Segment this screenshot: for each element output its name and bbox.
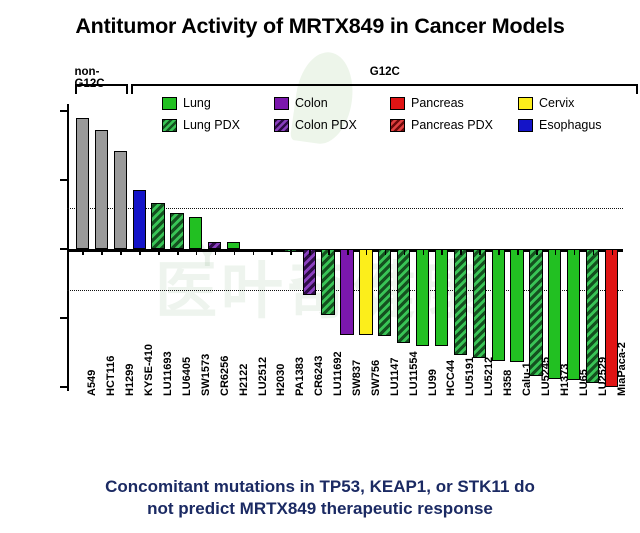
x-label-h2030: H2030: [275, 364, 287, 396]
x-label-h1299: H1299: [124, 364, 136, 396]
x-tick: [593, 249, 595, 255]
x-tick: [498, 249, 500, 255]
x-label-lu11692: LU11692: [332, 351, 344, 396]
chart-page: 医叶奇健康 Y Antitumor Activity of MRTX849 in…: [0, 0, 640, 533]
group-label-g12c: G12C: [131, 66, 638, 78]
x-tick: [120, 249, 122, 255]
x-label-lu1147: LU1147: [389, 357, 401, 396]
bar-cr6256: [208, 242, 221, 249]
x-tick: [101, 249, 103, 255]
x-label-lu5245: LU5245: [540, 357, 552, 396]
bar-a549: [76, 118, 89, 249]
x-tick: [234, 249, 236, 255]
bar-kyse-410: [133, 190, 146, 249]
bar-hcc44: [435, 249, 448, 346]
x-label-lu5212: LU5212: [483, 357, 495, 396]
x-label-lu11693: LU11693: [162, 351, 174, 396]
x-label-cr6256: CR6256: [219, 356, 231, 396]
x-tick: [215, 249, 217, 255]
x-tick: [177, 249, 179, 255]
bar-calu-1: [510, 249, 523, 362]
x-label-lu6405: LU6405: [181, 357, 193, 396]
x-tick: [82, 249, 84, 255]
x-tick: [347, 249, 349, 255]
x-tick: [404, 249, 406, 255]
x-label-hct116: HCT116: [105, 356, 117, 396]
x-label-sw756: SW756: [370, 360, 382, 396]
x-label-sw1573: SW1573: [200, 354, 212, 396]
x-tick: [158, 249, 160, 255]
x-tick: [328, 249, 330, 255]
bar-h1299: [114, 151, 127, 249]
bar-lu1147: [378, 249, 391, 336]
x-tick: [536, 249, 538, 255]
x-tick: [574, 249, 576, 255]
y-tick: [60, 110, 67, 112]
x-label-lu2529: LU2529: [597, 357, 609, 396]
x-label-pa1383: PA1383: [294, 357, 306, 396]
bar-lu5212: [473, 249, 486, 358]
bar-lu11692: [321, 249, 334, 315]
x-label-kyse-410: KYSE-410: [143, 344, 155, 396]
x-tick: [196, 249, 198, 255]
x-tick: [460, 249, 462, 255]
caption-line-2: not predict MRTX849 therapeutic response: [40, 498, 600, 520]
x-label-lu11554: LU11554: [408, 351, 420, 396]
x-tick: [612, 249, 614, 255]
x-label-lu99: LU99: [427, 369, 439, 396]
x-label-h1373: H1373: [559, 364, 571, 396]
y-tick: [60, 386, 67, 388]
x-tick: [423, 249, 425, 255]
y-tick: [60, 179, 67, 181]
bar-lu65: [567, 249, 580, 380]
caption-line-1: Concomitant mutations in TP53, KEAP1, or…: [40, 476, 600, 498]
x-tick: [139, 249, 141, 255]
x-label-miapaca-2: MiaPaca-2: [616, 342, 628, 396]
group-bracket: [131, 84, 638, 94]
y-tick: [60, 248, 67, 250]
bar-cr6243: [303, 249, 316, 295]
x-tick: [555, 249, 557, 255]
x-label-h2122: H2122: [238, 364, 250, 396]
bar-lu11554: [397, 249, 410, 343]
x-label-lu65: LU65: [578, 369, 590, 396]
bar-lu5191: [454, 249, 467, 355]
figure-caption: Concomitant mutations in TP53, KEAP1, or…: [40, 476, 600, 521]
bar-sw1573: [189, 217, 202, 249]
bar-h2122: [227, 242, 240, 249]
bar-h358: [492, 249, 505, 361]
bar-sw837: [340, 249, 353, 335]
x-tick: [385, 249, 387, 255]
x-label-calu-1: Calu-1: [521, 362, 533, 396]
x-label-sw837: SW837: [351, 360, 363, 396]
group-label-non-g12c: non-G12C: [75, 66, 129, 90]
x-tick: [517, 249, 519, 255]
x-tick: [309, 249, 311, 255]
bar-lu99: [416, 249, 429, 346]
x-tick: [290, 249, 292, 255]
x-tick: [479, 249, 481, 255]
x-label-lu5191: LU5191: [464, 357, 476, 396]
x-label-a549: A549: [86, 370, 98, 396]
x-tick: [441, 249, 443, 255]
page-title: Antitumor Activity of MRTX849 in Cancer …: [0, 14, 640, 39]
bar-lu11693: [151, 203, 164, 249]
bar-hct116: [95, 130, 108, 249]
x-tick: [366, 249, 368, 255]
x-label-cr6243: CR6243: [313, 356, 325, 396]
x-tick: [253, 249, 255, 255]
x-axis-labels: A549HCT116H1299KYSE-410LU11693LU6405SW15…: [67, 394, 627, 474]
x-label-hcc44: HCC44: [445, 360, 457, 396]
x-label-h358: H358: [502, 370, 514, 396]
bar-sw756: [359, 249, 372, 335]
x-label-lu2512: LU2512: [257, 357, 269, 396]
bar-lu6405: [170, 213, 183, 249]
x-tick: [271, 249, 273, 255]
y-tick: [60, 317, 67, 319]
